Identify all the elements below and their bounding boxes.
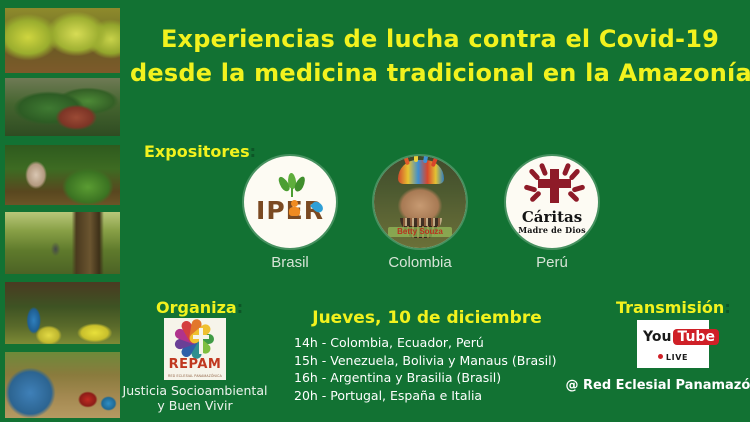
portrait-caption: Betty Souza bbox=[388, 227, 452, 237]
colon-glyph: : bbox=[237, 298, 243, 317]
person-body-icon bbox=[289, 207, 300, 216]
photo-forest-trail bbox=[5, 212, 120, 274]
photo-hands-holding-leaves bbox=[5, 78, 120, 136]
iper-logo: IPER bbox=[244, 156, 336, 248]
flame-ray-icon bbox=[529, 190, 542, 203]
caritas-subtitle: Madre de Dios bbox=[506, 225, 598, 235]
transmision-block: You Tube LIVE @ Red Eclesial Panamazónic… bbox=[596, 320, 750, 368]
title-line-2: desde la medicina tradicional en la Amaz… bbox=[130, 56, 750, 90]
schedule-row: 15h - Venezuela, Bolivia y Manaus (Brasi… bbox=[282, 352, 572, 370]
person-head-icon bbox=[291, 200, 298, 207]
photo-man-at-market bbox=[5, 352, 120, 418]
organiza-label-text: Organiza bbox=[156, 298, 237, 317]
repam-wordmark: REPAM bbox=[164, 357, 226, 372]
flame-ray-icon bbox=[572, 184, 586, 192]
youtube-wordmark: You Tube bbox=[643, 329, 719, 345]
repam-logo: REPAM RED ECLESIAL PANAMAZÓNICA bbox=[164, 318, 226, 380]
speaker-peru: Cáritas Madre de Dios Perú bbox=[502, 156, 602, 271]
organiza-block: REPAM RED ECLESIAL PANAMAZÓNICA Justicia… bbox=[120, 318, 270, 413]
speaker-country-label: Colombia bbox=[370, 254, 470, 271]
cross-vertical-icon bbox=[199, 328, 203, 354]
organiza-caption-line-1: Justicia Socioambiental bbox=[120, 383, 270, 398]
cross-horizontal-icon bbox=[193, 335, 209, 339]
title-line-1: Experiencias de lucha contra el Covid-19 bbox=[130, 22, 750, 56]
channel-handle: @ Red Eclesial Panamazónica bbox=[560, 378, 750, 393]
expositores-label-text: Expositores bbox=[144, 142, 250, 161]
schedule-row: 14h - Colombia, Ecuador, Perú bbox=[282, 334, 572, 352]
schedule-block: Jueves, 10 de diciembre 14h - Colombia, … bbox=[282, 308, 572, 404]
organiza-label: Organiza: bbox=[156, 298, 243, 317]
star-burst-icon bbox=[170, 320, 220, 362]
youtube-tube-text: Tube bbox=[673, 329, 719, 345]
live-dot-icon bbox=[658, 354, 663, 359]
live-badge: LIVE bbox=[637, 353, 709, 362]
youtube-you-text: You bbox=[643, 329, 671, 345]
flame-ray-icon bbox=[567, 190, 580, 203]
photo-strip bbox=[0, 0, 124, 422]
transmision-label: Transmisión: bbox=[616, 298, 731, 317]
feather-icon bbox=[414, 156, 418, 162]
event-date: Jueves, 10 de diciembre bbox=[282, 308, 572, 328]
schedule-row: 16h - Argentina y Brasilia (Brasil) bbox=[282, 369, 572, 387]
caritas-logo: Cáritas Madre de Dios bbox=[506, 156, 598, 248]
speakers-row: IPER Brasil Betty Souza bbox=[240, 156, 620, 276]
speaker-country-label: Brasil bbox=[240, 254, 340, 271]
cross-vertical-icon bbox=[550, 169, 559, 203]
live-label-text: LIVE bbox=[666, 353, 688, 362]
schedule-row: 20h - Portugal, España e Italia bbox=[282, 387, 572, 405]
youtube-live-logo[interactable]: You Tube LIVE bbox=[637, 320, 709, 368]
betty-souza-portrait: Betty Souza bbox=[374, 156, 466, 248]
organiza-caption-line-2: y Buen Vivir bbox=[120, 398, 270, 413]
photo-farmer-in-crops bbox=[5, 145, 120, 205]
colon-glyph: : bbox=[724, 298, 730, 317]
page-title: Experiencias de lucha contra el Covid-19… bbox=[130, 22, 750, 90]
speaker-brasil: IPER Brasil bbox=[240, 156, 340, 271]
speaker-colombia: Betty Souza Colombia bbox=[370, 156, 470, 271]
transmision-label-text: Transmisión bbox=[616, 298, 724, 317]
photo-woman-with-fruit bbox=[5, 282, 120, 344]
photo-yellow-shrub-field bbox=[5, 8, 120, 73]
poster-root: Experiencias de lucha contra el Covid-19… bbox=[0, 0, 750, 422]
caritas-name: Cáritas bbox=[506, 208, 598, 226]
speaker-country-label: Perú bbox=[502, 254, 602, 271]
repam-tagline: RED ECLESIAL PANAMAZÓNICA bbox=[164, 374, 226, 378]
flame-ray-icon bbox=[539, 163, 549, 177]
